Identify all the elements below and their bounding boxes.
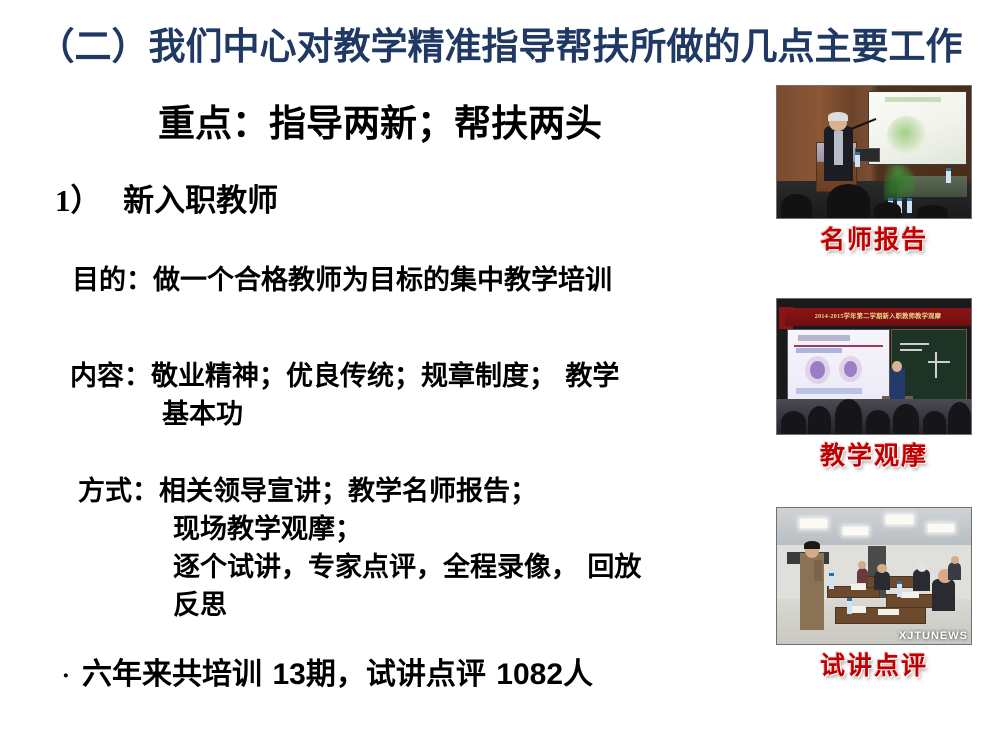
bullet-text-after: 人 [563, 657, 593, 692]
photo2-student-head [923, 411, 946, 434]
photo1-water-bottle [946, 168, 951, 183]
content-line-1: 敬业精神；优良传统；规章制度； 教学 [151, 361, 619, 392]
method-line-2: 现场教学观摩； [78, 511, 768, 549]
purpose-paragraph: 目的：做一个合格教师为目标的集中教学培训 [72, 262, 762, 300]
photo1-audience-head [781, 194, 812, 218]
photo3-ceiling-light [800, 519, 827, 529]
bullet-marker-icon: · [62, 656, 82, 696]
photo1-screen-title-bar [885, 97, 941, 102]
photo1-projection-screen [868, 91, 967, 164]
slide-body: 重点：指导两新；帮扶两头 1） 新入职教师 目的：做一个合格教师为目标的集中教学… [0, 0, 770, 750]
photo2-slide-footer-text [796, 388, 863, 394]
photo2-chalk-writing [935, 352, 937, 378]
photo2-slide-diagram [844, 361, 857, 378]
method-paragraph: 方式：相关领导宣讲；教学名师报告； 现场教学观摩； 逐个试讲，专家点评，全程录像… [78, 473, 768, 625]
photo3-attendee [857, 568, 869, 583]
photo2-red-banner: 2014-2015学年第二学期新入职教师教学观摩 [785, 308, 971, 326]
purpose-label: 目的： [72, 265, 153, 296]
photo1-speaker-hair [828, 112, 847, 121]
photo2-chalk-writing [900, 349, 922, 351]
photo-caption-master-lecture: 名师报告 [776, 225, 972, 255]
photo-master-lecture [776, 85, 972, 219]
photo2-student-head [781, 411, 806, 434]
photo-block-trial-lecture-review: XJTUNEWS 试讲点评 [776, 507, 972, 681]
photo2-chalk-writing [928, 361, 950, 363]
photo2-teacher-head [892, 361, 902, 372]
bullet-count-periods: 13 [272, 658, 305, 691]
photo1-audience-head [874, 202, 901, 218]
method-line-4: 反思 [78, 587, 768, 625]
photo1-speaker-shirt [834, 131, 843, 165]
photo1-screen-graphic [887, 116, 928, 153]
item-1-heading: 1） 新入职教师 [55, 180, 278, 222]
photo3-paper [851, 584, 867, 589]
photo2-slide-text [796, 348, 842, 353]
photo2-slide-rule [794, 345, 883, 347]
photo-teaching-observation: 2014-2015学年第二学期新入职教师教学观摩 [776, 298, 972, 435]
photo3-ceiling-light [928, 524, 953, 532]
photo2-student-head [835, 399, 862, 434]
method-line-3: 逐个试讲，专家点评，全程录像， 回放 [78, 549, 768, 587]
item-1-number: 1） [55, 183, 102, 218]
photo2-student-head [948, 402, 971, 434]
photo3-presenter-hair [804, 541, 820, 549]
purpose-text: 做一个合格教师为目标的集中教学培训 [153, 265, 612, 296]
photo3-attendee [932, 579, 955, 612]
photo-trial-lecture-review: XJTUNEWS [776, 507, 972, 645]
photo-block-teaching-observation: 2014-2015学年第二学期新入职教师教学观摩 [776, 298, 972, 471]
photo1-audience-head [917, 205, 948, 218]
item-1-title: 新入职教师 [123, 183, 278, 219]
photo3-paper [878, 609, 899, 616]
photo3-water-bottle [847, 598, 852, 614]
photo-caption-trial-lecture-review: 试讲点评 [776, 651, 972, 681]
bullet-text-middle: 期，试讲点评 [306, 657, 496, 692]
bullet-count-people: 1082 [496, 658, 563, 691]
photo2-teacher-body [890, 369, 906, 399]
photo2-chalk-writing [900, 343, 929, 345]
photo3-attendee [948, 562, 962, 580]
key-point-heading: 重点：指导两新；帮扶两头 [70, 100, 690, 146]
content-label: 内容： [70, 361, 151, 392]
photo3-water-bottle [829, 573, 834, 589]
photo3-water-bottle [897, 581, 902, 597]
photo-block-master-lecture: 名师报告 [776, 85, 972, 255]
method-line-1: 相关领导宣讲；教学名师报告； [159, 476, 537, 507]
photo1-water-bottle [907, 198, 912, 213]
photo2-student-head [808, 406, 831, 434]
photo1-potted-plant [884, 165, 915, 199]
photo3-paper [901, 592, 918, 597]
photo1-water-bottle [855, 152, 860, 167]
photo3-attendee [913, 569, 930, 591]
photo3-attendee [874, 571, 890, 590]
photo3-presenter-arm [814, 560, 822, 582]
photo2-student-head [866, 410, 889, 434]
photo3-ceiling-light [843, 527, 868, 535]
bullet-text-before: 六年来共培训 [82, 657, 272, 692]
photo3-ceiling-light [886, 515, 913, 525]
photo2-slide-title [798, 335, 850, 341]
photo2-projected-slide [787, 329, 890, 401]
photo3-attendee-head [877, 564, 887, 574]
content-line-2: 基本功 [70, 396, 760, 434]
photo2-slide-diagram [810, 361, 825, 379]
photo3-watermark: XJTUNEWS [899, 630, 968, 642]
photo-caption-teaching-observation: 教学观摩 [776, 441, 972, 471]
summary-bullet: ·六年来共培训 13期，试讲点评 1082人 [62, 655, 593, 696]
content-paragraph: 内容：敬业精神；优良传统；规章制度； 教学 基本功 [70, 358, 760, 434]
slide-canvas: （二）我们中心对教学精准指导帮扶所做的几点主要工作 重点：指导两新；帮扶两头 1… [0, 0, 1000, 750]
method-label: 方式： [78, 476, 159, 507]
photo3-attendee-head [917, 561, 928, 572]
photo2-student-head [893, 404, 918, 434]
photo1-audience-head [827, 184, 870, 218]
